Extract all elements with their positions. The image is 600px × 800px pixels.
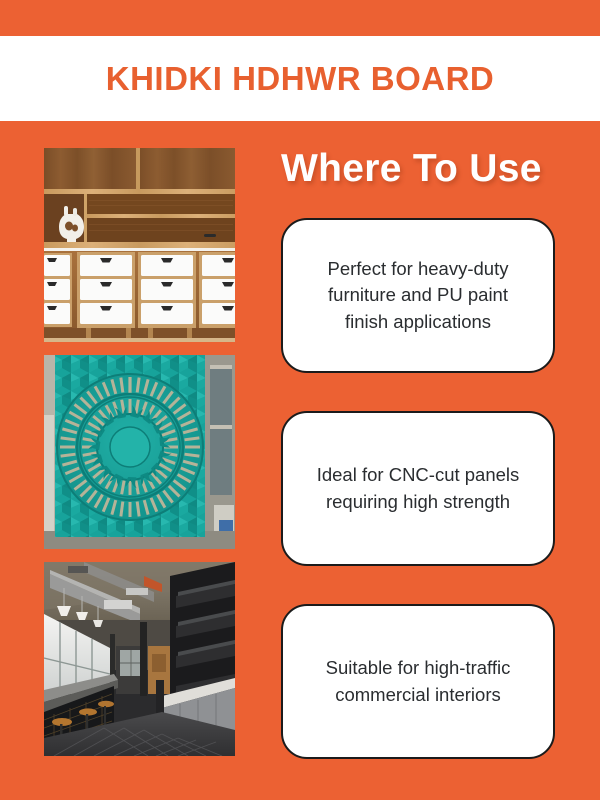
wooden-shelving-illustration (44, 148, 235, 342)
usage-card-text: Perfect for heavy-duty furniture and PU … (305, 256, 531, 335)
usage-card: Perfect for heavy-duty furniture and PU … (281, 218, 555, 373)
usage-card-list: Perfect for heavy-duty furniture and PU … (281, 218, 555, 759)
cnc-panel-illustration (44, 355, 235, 549)
section-heading: Where To Use (281, 147, 581, 191)
usage-card: Suitable for high-traffic commercial int… (281, 604, 555, 759)
image-gallery (44, 148, 235, 756)
text-column: Where To Use Perfect for heavy-duty furn… (265, 121, 585, 800)
usage-card: Ideal for CNC-cut panels requiring high … (281, 411, 555, 566)
poster-page: { "theme": { "background": "#EC6133", "b… (0, 0, 600, 800)
title-banner: KHIDKI HDHWR BOARD (0, 36, 600, 121)
poster-body: Where To Use Perfect for heavy-duty furn… (0, 121, 600, 800)
page-title: KHIDKI HDHWR BOARD (106, 60, 494, 98)
usage-card-text: Suitable for high-traffic commercial int… (305, 655, 531, 708)
wooden-shelving-with-white-drawers-photo (44, 148, 235, 342)
commercial-cafe-interior-photo (44, 562, 235, 756)
teal-cnc-cut-decorative-panel-photo (44, 355, 235, 549)
cafe-interior-illustration (44, 562, 235, 756)
usage-card-text: Ideal for CNC-cut panels requiring high … (305, 462, 531, 515)
